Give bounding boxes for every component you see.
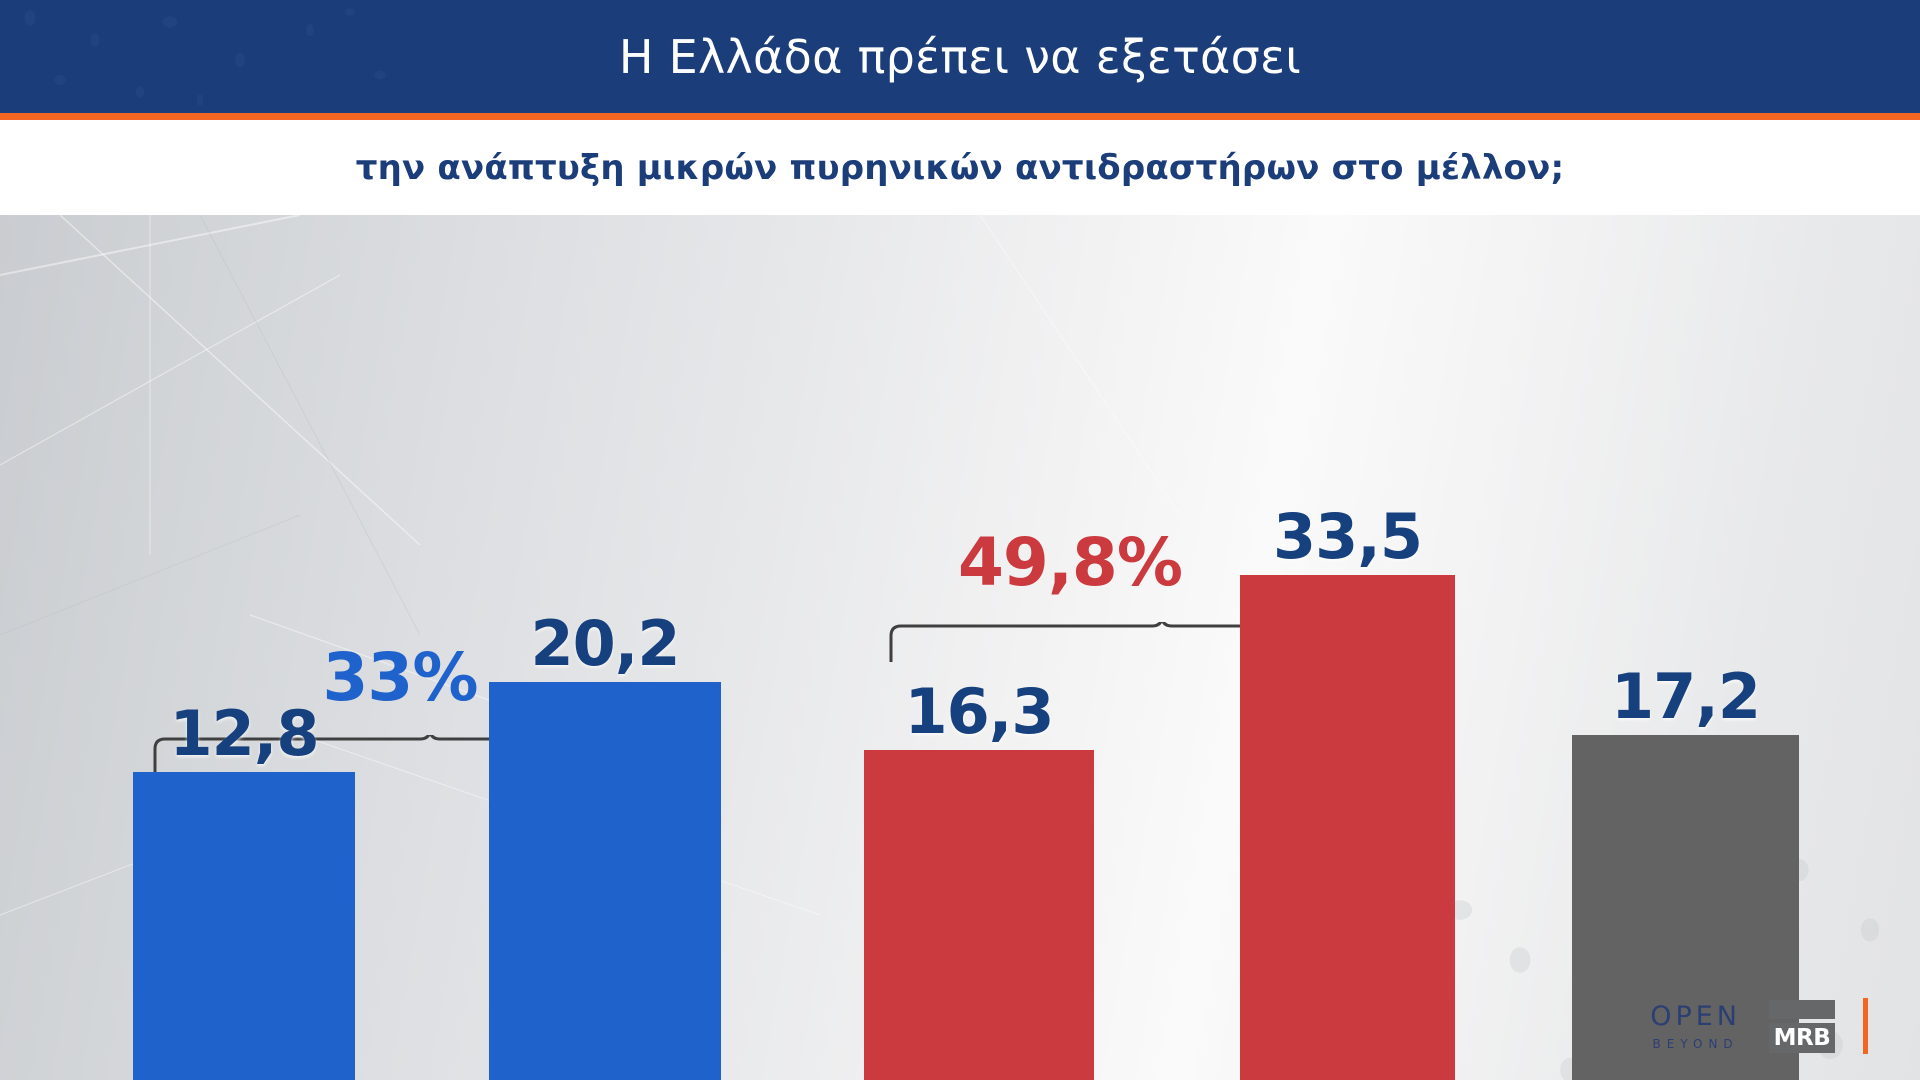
bar-rect-2[interactable] xyxy=(489,682,721,1080)
subtitle-band: την ανάπτυξη μικρών πυρηνικών αντιδραστή… xyxy=(0,120,1920,215)
chart-area: 33% 49,8% 12,8 Σίγουρα Συμφωνώ 20,2 Μάλλ… xyxy=(0,215,1920,1080)
open-logo-text: OPEN xyxy=(1650,1001,1741,1032)
mrb-logo-bar xyxy=(1769,1000,1835,1019)
mrb-logo: MRB xyxy=(1769,1000,1835,1053)
mrb-logo-text: MRB xyxy=(1769,1023,1835,1053)
bar-value-4: 33,5 xyxy=(1240,506,1455,568)
bar-rect-4[interactable] xyxy=(1240,575,1455,1080)
orange-accent-tick xyxy=(1863,998,1868,1054)
bar-value-3: 16,3 xyxy=(864,681,1094,743)
bar-rect-3[interactable] xyxy=(864,750,1094,1080)
header-banner: Η Ελλάδα πρέπει να εξετάσει xyxy=(0,0,1920,113)
bar-column-5: 17,2 ΔΞ/ΔΑ xyxy=(1572,238,1799,1080)
bar-column-4: 33,5 Σίγουρα Διαφωνώ xyxy=(1240,238,1455,1080)
bar-column-1: 12,8 Σίγουρα Συμφωνώ xyxy=(133,238,355,1080)
open-beyond-logo: OPEN BEYOND xyxy=(1650,1001,1741,1051)
bar-value-2: 20,2 xyxy=(489,613,721,675)
page-title: Η Ελλάδα πρέπει να εξετάσει xyxy=(0,0,1920,113)
bar-value-1: 12,8 xyxy=(133,703,355,765)
bar-value-5: 17,2 xyxy=(1572,666,1799,728)
bar-column-3: 16,3 Μάλλον Διαφωνώ xyxy=(864,238,1094,1080)
open-beyond-text: BEYOND xyxy=(1653,1037,1739,1051)
bar-column-2: 20,2 Μάλλον Συμφωνώ xyxy=(489,238,721,1080)
page-subtitle: την ανάπτυξη μικρών πυρηνικών αντιδραστή… xyxy=(356,148,1565,188)
header-divider xyxy=(0,113,1920,120)
open-wordmark: OPEN xyxy=(1650,1001,1741,1032)
branding-logos: OPEN BEYOND MRB xyxy=(1650,998,1868,1054)
bar-rect-1[interactable] xyxy=(133,772,355,1080)
